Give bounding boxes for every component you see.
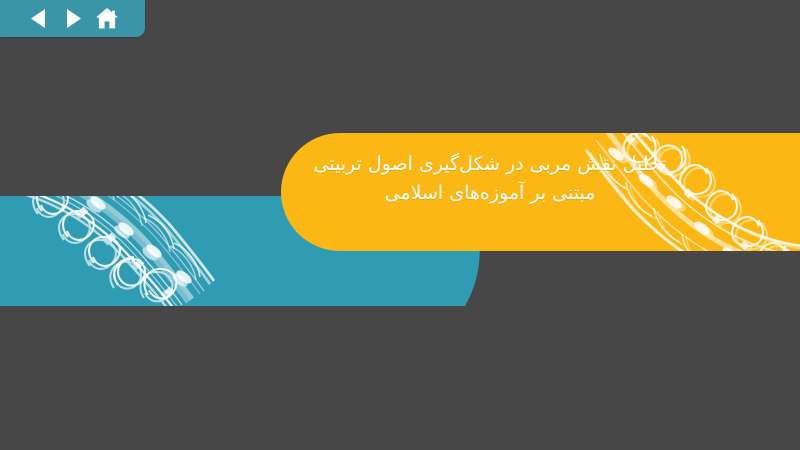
presentation-slide: تحلیل نقش مربی در شکل‌گیری اصول تربیتی م…: [0, 0, 800, 450]
home-icon: [96, 8, 118, 29]
triangle-right-icon: [65, 9, 81, 28]
home-button[interactable]: [90, 4, 124, 34]
next-slide-button[interactable]: [56, 4, 90, 34]
triangle-left-icon: [31, 9, 47, 28]
slide-decorative-shapes: [0, 0, 800, 450]
slide-navigation-bar: [0, 0, 145, 37]
previous-slide-button[interactable]: [22, 4, 56, 34]
